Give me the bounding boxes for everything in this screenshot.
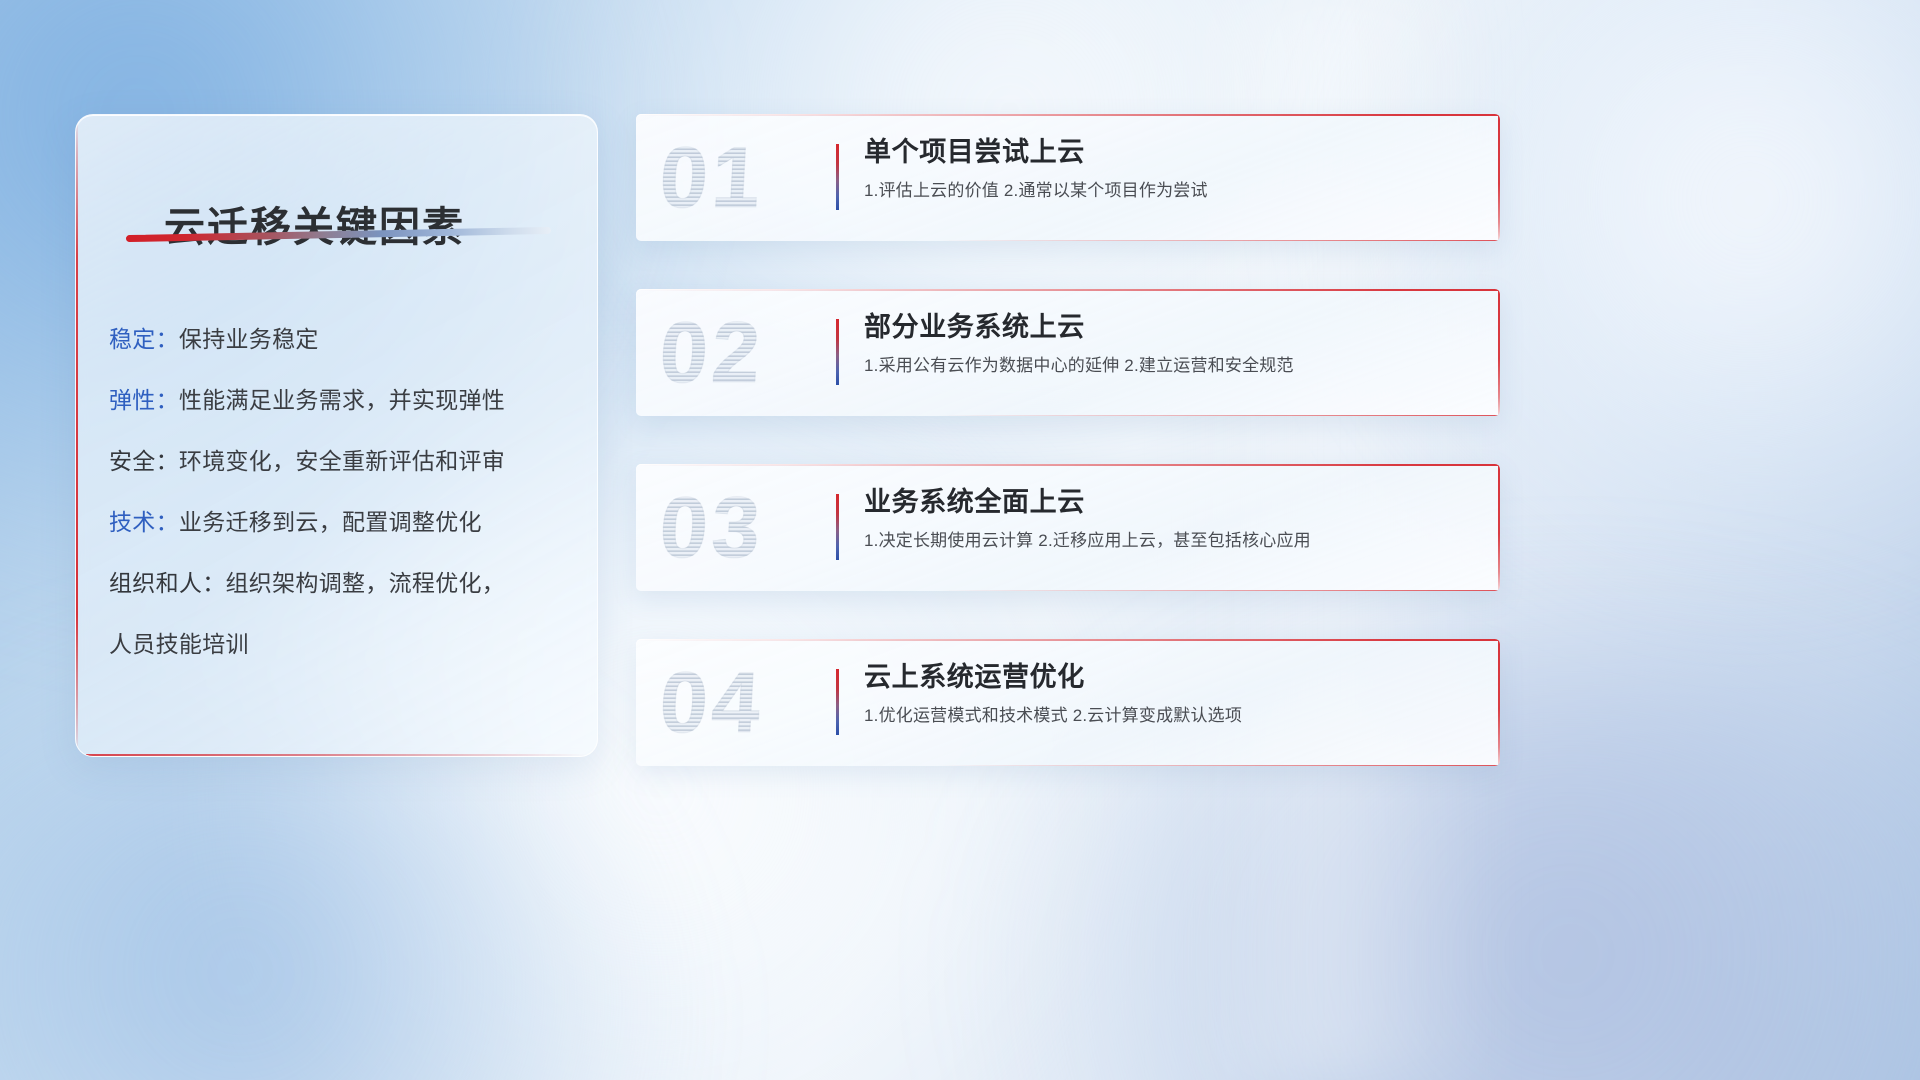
card-subtitle: 1.评估上云的价值 2.通常以某个项目作为尝试: [864, 179, 1474, 203]
card-right-accent-line: [1498, 114, 1500, 241]
key-factor-label: 组织和人：: [109, 570, 226, 596]
migration-stage-card[interactable]: 0404云上系统运营优化1.优化运营模式和技术模式 2.云计算变成默认选项: [636, 639, 1500, 766]
migration-stage-card[interactable]: 0303业务系统全面上云1.决定长期使用云计算 2.迁移应用上云，甚至包括核心应…: [636, 464, 1500, 591]
card-step-number: 03: [657, 472, 829, 584]
card-divider-bar: [836, 669, 839, 735]
card-top-accent-line: [636, 114, 1500, 116]
card-top-accent-line: [636, 464, 1500, 466]
key-factor-item: 稳定：保持业务稳定: [109, 309, 577, 370]
card-bottom-accent-line: [938, 765, 1500, 766]
card-subtitle: 1.决定长期使用云计算 2.迁移应用上云，甚至包括核心应用: [864, 529, 1474, 553]
card-divider-bar: [836, 494, 839, 560]
key-factor-text: 业务迁移到云，配置调整优化: [179, 509, 482, 535]
migration-stage-card-list: 0101单个项目尝试上云1.评估上云的价值 2.通常以某个项目作为尝试0202部…: [636, 114, 1500, 814]
card-title: 部分业务系统上云: [864, 307, 1474, 347]
card-step-number: 02: [657, 297, 829, 409]
key-factor-item: 组织和人：组织架构调整，流程优化，: [109, 553, 577, 614]
key-factor-item: 技术：业务迁移到云，配置调整优化: [109, 492, 577, 553]
key-factor-item: 弹性：性能满足业务需求，并实现弹性: [109, 370, 577, 431]
card-bottom-accent-line: [938, 240, 1500, 241]
key-factor-label: 弹性：: [109, 387, 179, 413]
key-factor-text: 组织架构调整，流程优化，: [226, 570, 506, 596]
card-right-accent-line: [1498, 289, 1500, 416]
card-subtitle: 1.优化运营模式和技术模式 2.云计算变成默认选项: [864, 704, 1474, 728]
card-top-accent-line: [636, 639, 1500, 641]
card-bottom-accent-line: [938, 415, 1500, 416]
key-factor-item: 人员技能培训: [109, 614, 577, 675]
card-step-number: 04: [657, 647, 829, 759]
card-title: 云上系统运营优化: [864, 657, 1474, 697]
card-bottom-accent-line: [938, 590, 1500, 591]
card-body: 单个项目尝试上云1.评估上云的价值 2.通常以某个项目作为尝试: [864, 132, 1474, 203]
card-right-accent-line: [1498, 639, 1500, 766]
panel-left-accent-line: [76, 115, 78, 756]
key-factors-panel: 云迁移关键因素 稳定：保持业务稳定弹性：性能满足业务需求，并实现弹性安全：环境变…: [75, 114, 598, 757]
card-right-accent-line: [1498, 464, 1500, 591]
card-body: 部分业务系统上云1.采用公有云作为数据中心的延伸 2.建立运营和安全规范: [864, 307, 1474, 378]
card-step-number: 01: [657, 122, 829, 234]
card-divider-bar: [836, 319, 839, 385]
card-title: 单个项目尝试上云: [864, 132, 1474, 172]
key-factor-label: 稳定：: [109, 326, 179, 352]
key-factor-text: 环境变化，安全重新评估和评审: [179, 448, 505, 474]
slide-stage: 云迁移关键因素 稳定：保持业务稳定弹性：性能满足业务需求，并实现弹性安全：环境变…: [0, 0, 1920, 1080]
card-top-accent-line: [636, 289, 1500, 291]
card-subtitle: 1.采用公有云作为数据中心的延伸 2.建立运营和安全规范: [864, 354, 1474, 378]
card-divider-bar: [836, 144, 839, 210]
panel-bottom-accent-line: [86, 754, 587, 756]
card-body: 云上系统运营优化1.优化运营模式和技术模式 2.云计算变成默认选项: [864, 657, 1474, 728]
key-factor-label: 安全：: [109, 448, 179, 474]
key-factor-text: 人员技能培训: [109, 631, 249, 657]
key-factor-text: 性能满足业务需求，并实现弹性: [179, 387, 505, 413]
key-factor-item: 安全：环境变化，安全重新评估和评审: [109, 431, 577, 492]
card-body: 业务系统全面上云1.决定长期使用云计算 2.迁移应用上云，甚至包括核心应用: [864, 482, 1474, 553]
key-factors-list: 稳定：保持业务稳定弹性：性能满足业务需求，并实现弹性安全：环境变化，安全重新评估…: [109, 309, 577, 675]
key-factor-label: 技术：: [109, 509, 179, 535]
key-factor-text: 保持业务稳定: [179, 326, 319, 352]
migration-stage-card[interactable]: 0101单个项目尝试上云1.评估上云的价值 2.通常以某个项目作为尝试: [636, 114, 1500, 241]
card-title: 业务系统全面上云: [864, 482, 1474, 522]
page-title: 云迁移关键因素: [164, 193, 465, 253]
migration-stage-card[interactable]: 0202部分业务系统上云1.采用公有云作为数据中心的延伸 2.建立运营和安全规范: [636, 289, 1500, 416]
